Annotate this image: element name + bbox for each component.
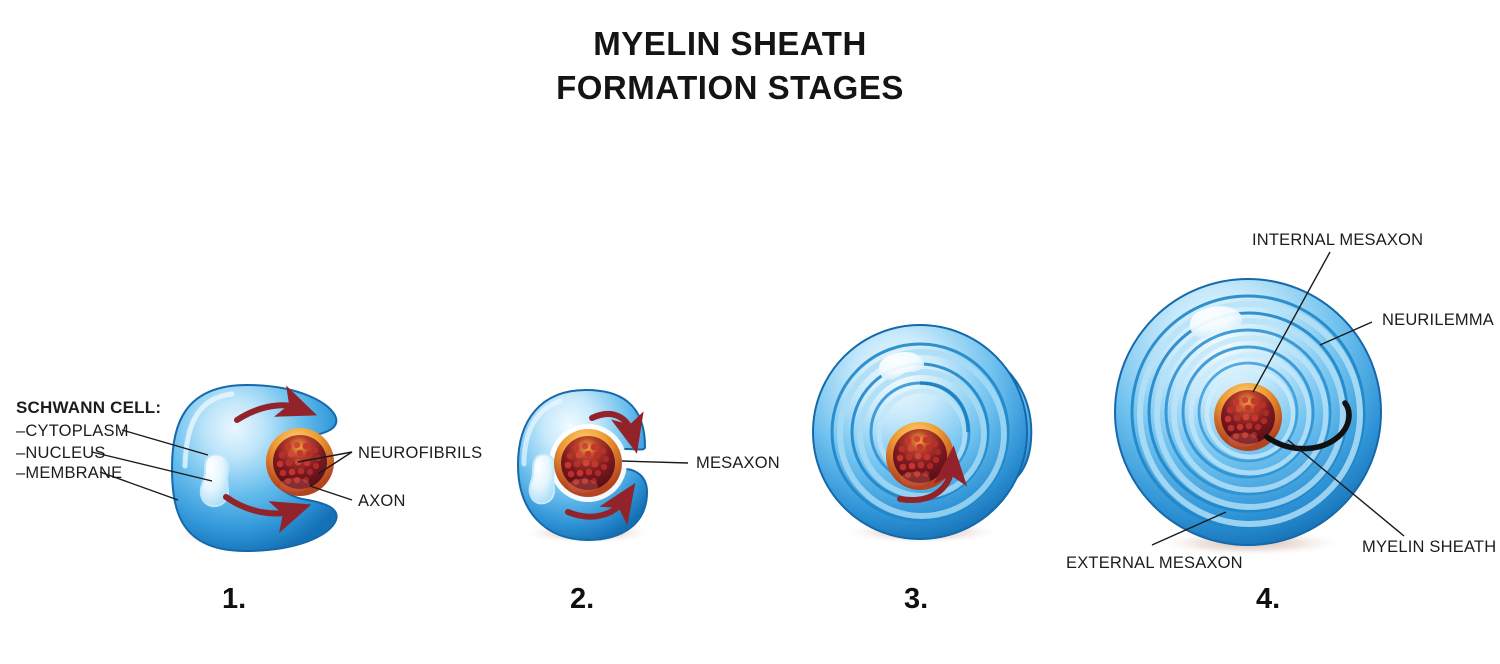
label-membrane: –MEMBRANE xyxy=(16,464,122,483)
diagram-canvas: MYELIN SHEATH FORMATION STAGES xyxy=(0,0,1500,664)
label-cytoplasm: –CYTOPLASM xyxy=(16,422,129,441)
label-myelin-sheath: MYELIN SHEATH xyxy=(1362,538,1496,557)
stage-1-illustration xyxy=(167,385,337,551)
stage-number-4: 4. xyxy=(1256,583,1280,616)
label-schwann-cell: SCHWANN CELL: xyxy=(16,398,161,418)
stage-2-illustration xyxy=(518,390,654,544)
label-neurilemma: NEURILEMMA xyxy=(1382,311,1494,330)
leader-mesaxon xyxy=(622,461,688,463)
label-nucleus: –NUCLEUS xyxy=(16,444,106,463)
label-neurofibrils: NEUROFIBRILS xyxy=(358,444,482,463)
label-axon: AXON xyxy=(358,492,406,511)
illustration-svg xyxy=(0,0,1500,664)
label-internal-mesaxon: INTERNAL MESAXON xyxy=(1252,231,1423,250)
stage-2-nucleus xyxy=(530,454,555,503)
stage-3-illustration xyxy=(813,325,1031,544)
stage-4-illustration xyxy=(1115,279,1381,556)
stage-number-2: 2. xyxy=(570,583,594,616)
stage-3-axon xyxy=(886,422,954,490)
stage-2-axon xyxy=(554,429,622,497)
label-mesaxon: MESAXON xyxy=(696,454,780,473)
leader-axon xyxy=(310,486,352,500)
stage-number-3: 3. xyxy=(904,583,928,616)
stage-number-1: 1. xyxy=(222,583,246,616)
label-external-mesaxon: EXTERNAL MESAXON xyxy=(1066,554,1243,573)
